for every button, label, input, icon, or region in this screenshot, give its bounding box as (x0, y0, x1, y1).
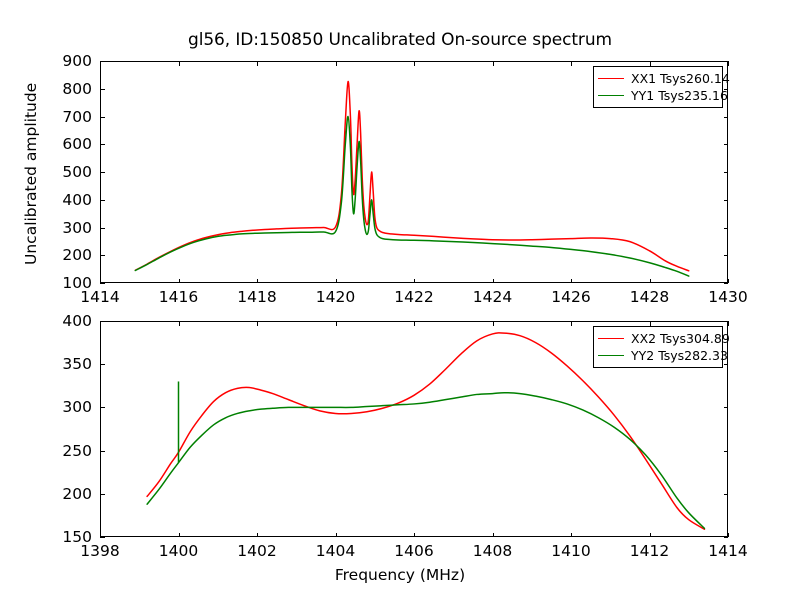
y-tick-label: 400 (42, 312, 92, 330)
y-tick-mark (100, 89, 105, 90)
x-tick-mark (728, 279, 729, 284)
legend-label: XX1 Tsys260.14 (631, 72, 730, 85)
x-tick-mark (257, 533, 258, 538)
x-tick-mark (100, 321, 101, 326)
y-tick-mark (100, 144, 105, 145)
y-tick-label: 400 (42, 191, 92, 209)
y-tick-mark (724, 144, 729, 145)
x-tick-label: 1414 (698, 542, 758, 560)
x-tick-mark (493, 61, 494, 66)
y-tick-label: 250 (42, 442, 92, 460)
legend-line-swatch (598, 355, 624, 356)
x-tick-mark (650, 533, 651, 538)
legend-entry: YY1 Tsys235.16 (598, 87, 717, 104)
x-tick-label: 1420 (306, 288, 366, 306)
x-tick-mark (728, 61, 729, 66)
x-tick-mark (257, 61, 258, 66)
legend-line-swatch (598, 78, 624, 79)
y-tick-mark (100, 117, 105, 118)
figure-title: gl56, ID:150850 Uncalibrated On-source s… (0, 30, 800, 50)
x-tick-mark (571, 533, 572, 538)
y-tick-label: 800 (42, 80, 92, 98)
x-tick-mark (336, 321, 337, 326)
y-tick-mark (724, 451, 729, 452)
legend-label: YY1 Tsys235.16 (631, 89, 728, 102)
x-tick-mark (179, 321, 180, 326)
legend-line-swatch (598, 338, 624, 339)
y-tick-mark (724, 283, 729, 284)
y-tick-label: 200 (42, 485, 92, 503)
y-tick-label: 600 (42, 135, 92, 153)
y-tick-mark (724, 117, 729, 118)
x-tick-mark (179, 533, 180, 538)
x-tick-label: 1416 (149, 288, 209, 306)
bottom-panel-legend: XX2 Tsys304.89YY2 Tsys282.33 (593, 326, 723, 368)
x-tick-mark (336, 61, 337, 66)
x-tick-mark (414, 279, 415, 284)
x-tick-label: 1398 (70, 542, 130, 560)
top-panel-legend: XX1 Tsys260.14YY1 Tsys235.16 (593, 66, 723, 108)
x-tick-mark (650, 61, 651, 66)
x-tick-label: 1418 (227, 288, 287, 306)
y-tick-mark (100, 172, 105, 173)
y-tick-mark (100, 364, 105, 365)
x-tick-mark (100, 61, 101, 66)
y-tick-mark (724, 364, 729, 365)
x-tick-label: 1410 (541, 542, 601, 560)
y-tick-mark (100, 537, 105, 538)
x-tick-label: 1406 (384, 542, 444, 560)
figure-canvas: gl56, ID:150850 Uncalibrated On-source s… (0, 0, 800, 600)
x-tick-mark (650, 279, 651, 284)
y-tick-label: 900 (42, 52, 92, 70)
y-tick-label: 700 (42, 108, 92, 126)
y-tick-label: 300 (42, 398, 92, 416)
x-tick-mark (728, 321, 729, 326)
x-tick-label: 1428 (620, 288, 680, 306)
x-tick-label: 1404 (306, 542, 366, 560)
y-tick-mark (100, 494, 105, 495)
x-tick-mark (179, 279, 180, 284)
x-tick-mark (336, 279, 337, 284)
x-tick-mark (414, 533, 415, 538)
x-tick-mark (414, 61, 415, 66)
x-tick-mark (493, 279, 494, 284)
x-tick-mark (571, 279, 572, 284)
y-tick-mark (724, 255, 729, 256)
x-tick-label: 1430 (698, 288, 758, 306)
legend-line-swatch (598, 95, 624, 96)
y-tick-mark (100, 255, 105, 256)
x-tick-mark (257, 279, 258, 284)
legend-label: XX2 Tsys304.89 (631, 332, 730, 345)
y-tick-mark (100, 451, 105, 452)
y-tick-label: 200 (42, 246, 92, 264)
legend-label: YY2 Tsys282.33 (631, 349, 728, 362)
x-axis-label: Frequency (MHz) (0, 566, 800, 584)
y-tick-mark (724, 200, 729, 201)
y-tick-mark (100, 228, 105, 229)
legend-entry: XX2 Tsys304.89 (598, 330, 717, 347)
y-tick-mark (724, 494, 729, 495)
x-tick-mark (650, 321, 651, 326)
x-tick-mark (257, 321, 258, 326)
y-tick-label: 350 (42, 355, 92, 373)
x-tick-mark (100, 533, 101, 538)
x-tick-label: 1400 (149, 542, 209, 560)
x-tick-label: 1402 (227, 542, 287, 560)
legend-entry: YY2 Tsys282.33 (598, 347, 717, 364)
y-tick-mark (724, 537, 729, 538)
x-tick-label: 1424 (463, 288, 523, 306)
y-tick-mark (100, 200, 105, 201)
y-tick-mark (724, 407, 729, 408)
x-tick-label: 1426 (541, 288, 601, 306)
y-tick-mark (100, 407, 105, 408)
x-tick-label: 1422 (384, 288, 444, 306)
x-tick-label: 1412 (620, 542, 680, 560)
y-tick-mark (100, 283, 105, 284)
y-axis-label: Uncalibrated amplitude (22, 83, 40, 265)
x-tick-mark (571, 61, 572, 66)
x-tick-mark (493, 321, 494, 326)
y-tick-label: 300 (42, 219, 92, 237)
x-tick-mark (100, 279, 101, 284)
x-tick-mark (336, 533, 337, 538)
x-tick-label: 1414 (70, 288, 130, 306)
y-tick-label: 500 (42, 163, 92, 181)
x-tick-mark (414, 321, 415, 326)
x-tick-mark (571, 321, 572, 326)
y-tick-mark (724, 228, 729, 229)
legend-entry: XX1 Tsys260.14 (598, 70, 717, 87)
x-tick-label: 1408 (463, 542, 523, 560)
x-tick-mark (179, 61, 180, 66)
x-tick-mark (493, 533, 494, 538)
x-tick-mark (728, 533, 729, 538)
y-tick-mark (724, 172, 729, 173)
